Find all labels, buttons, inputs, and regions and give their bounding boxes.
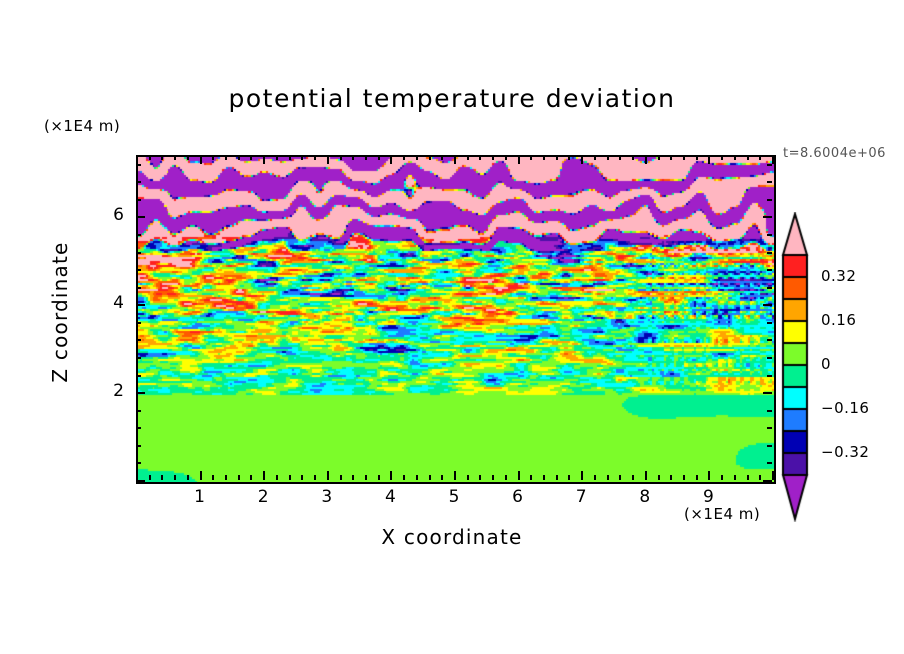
axis-tick [767, 287, 772, 289]
axis-tick [441, 475, 443, 480]
axis-tick [632, 475, 634, 480]
axis-tick [136, 287, 141, 289]
axis-tick [136, 462, 141, 464]
axis-tick [556, 155, 558, 160]
axis-tick [403, 475, 405, 480]
x-tick-label: 2 [243, 487, 283, 507]
axis-tick [136, 216, 145, 218]
axis-tick [763, 216, 772, 218]
axis-tick [161, 155, 163, 160]
axis-tick [492, 155, 494, 160]
y-tick-label: 2 [94, 381, 124, 401]
axis-tick [416, 155, 418, 160]
axis-tick [136, 164, 141, 166]
axis-tick [543, 155, 545, 160]
axis-tick [721, 475, 723, 480]
axis-tick [136, 392, 145, 394]
axis-tick [759, 155, 761, 160]
axis-tick [767, 445, 772, 447]
axis-tick [594, 475, 596, 480]
x-tick-label: 8 [625, 487, 665, 507]
y-axis-title: Z coordinate [48, 212, 72, 412]
axis-tick [378, 155, 380, 160]
colorbar-tick-label: 0.16 [821, 311, 856, 329]
y-tick-label: 6 [94, 205, 124, 225]
axis-tick [378, 475, 380, 480]
axis-tick [454, 155, 456, 164]
axis-tick [767, 375, 772, 377]
axis-tick [136, 181, 141, 183]
colorbar-tick-label: 0 [821, 355, 831, 373]
contour-plot-area [136, 155, 776, 484]
axis-tick [594, 155, 596, 160]
axis-tick [767, 322, 772, 324]
axis-tick [767, 164, 772, 166]
axis-tick [314, 155, 316, 160]
axis-tick [568, 155, 570, 160]
x-tick-label: 4 [370, 487, 410, 507]
axis-tick [352, 155, 354, 160]
axis-tick [327, 155, 329, 164]
y-axis-unit-label: (×1E4 m) [44, 117, 120, 135]
x-axis-title: X coordinate [0, 525, 904, 549]
axis-tick [289, 155, 291, 160]
axis-tick [759, 475, 761, 480]
axis-tick [763, 304, 772, 306]
axis-tick [530, 155, 532, 160]
axis-tick [454, 471, 456, 480]
axis-tick [767, 357, 772, 359]
axis-tick [136, 410, 141, 412]
axis-tick [200, 471, 202, 480]
axis-tick [340, 155, 342, 160]
colorbar-gradient [778, 212, 898, 522]
axis-tick [767, 199, 772, 201]
axis-tick [200, 155, 202, 164]
axis-tick [767, 269, 772, 271]
axis-tick [174, 475, 176, 480]
axis-tick [708, 471, 710, 480]
axis-tick [747, 155, 749, 160]
axis-tick [670, 155, 672, 160]
axis-tick [767, 252, 772, 254]
axis-tick [767, 234, 772, 236]
axis-tick [467, 475, 469, 480]
axis-tick [763, 392, 772, 394]
x-tick-label: 1 [180, 487, 220, 507]
axis-tick [763, 480, 772, 482]
axis-tick [772, 471, 774, 480]
axis-tick [174, 155, 176, 160]
axis-tick [767, 462, 772, 464]
axis-tick [250, 155, 252, 160]
axis-tick [301, 475, 303, 480]
time-annotation: t=8.6004e+06 [783, 146, 886, 161]
axis-tick [136, 480, 145, 482]
colorbar: 0.320.160−0.16−0.32 [778, 212, 898, 522]
axis-tick [263, 471, 265, 480]
axis-tick [340, 475, 342, 480]
axis-tick [136, 269, 141, 271]
colorbar-tick-label: 0.32 [821, 267, 856, 285]
axis-tick [250, 475, 252, 480]
axis-tick [352, 475, 354, 480]
axis-tick [212, 475, 214, 480]
axis-tick [314, 475, 316, 480]
axis-tick [492, 475, 494, 480]
axis-tick [365, 475, 367, 480]
axis-tick [568, 475, 570, 480]
axis-tick [238, 155, 240, 160]
axis-tick [479, 155, 481, 160]
x-tick-label: 3 [307, 487, 347, 507]
axis-tick [734, 475, 736, 480]
axis-tick [225, 475, 227, 480]
axis-tick [149, 475, 151, 480]
x-tick-label: 5 [434, 487, 474, 507]
axis-tick [441, 155, 443, 160]
axis-tick [403, 155, 405, 160]
axis-tick [767, 410, 772, 412]
axis-tick [767, 427, 772, 429]
axis-tick [238, 475, 240, 480]
axis-tick [556, 475, 558, 480]
y-tick-label: 4 [94, 293, 124, 313]
axis-tick [136, 339, 141, 341]
axis-tick [683, 155, 685, 160]
axis-tick [149, 155, 151, 160]
axis-tick [708, 155, 710, 164]
axis-tick [187, 475, 189, 480]
axis-tick [696, 155, 698, 160]
axis-tick [619, 155, 621, 160]
x-axis-unit-label: (×1E4 m) [684, 505, 760, 523]
axis-tick [518, 155, 520, 164]
axis-tick [136, 445, 141, 447]
axis-tick [772, 155, 774, 164]
axis-tick [607, 475, 609, 480]
colorbar-tick-label: −0.32 [821, 443, 869, 461]
axis-tick [136, 304, 145, 306]
x-tick-label: 9 [688, 487, 728, 507]
axis-tick [607, 155, 609, 160]
axis-tick [632, 155, 634, 160]
axis-tick [136, 252, 141, 254]
axis-tick [619, 475, 621, 480]
axis-tick [187, 155, 189, 160]
axis-tick [467, 155, 469, 160]
axis-tick [505, 475, 507, 480]
axis-tick [734, 155, 736, 160]
axis-tick [212, 155, 214, 160]
axis-tick [429, 475, 431, 480]
axis-tick [683, 475, 685, 480]
axis-tick [581, 155, 583, 164]
axis-tick [581, 471, 583, 480]
axis-tick [276, 475, 278, 480]
axis-tick [136, 375, 141, 377]
axis-tick [136, 427, 141, 429]
axis-tick [530, 475, 532, 480]
axis-tick [136, 357, 141, 359]
axis-tick [767, 339, 772, 341]
axis-tick [505, 155, 507, 160]
axis-tick [136, 471, 138, 480]
axis-tick [365, 155, 367, 160]
axis-tick [136, 322, 141, 324]
axis-tick [543, 475, 545, 480]
axis-tick [721, 155, 723, 160]
axis-tick [479, 475, 481, 480]
page-title: potential temperature deviation [0, 84, 904, 113]
colorbar-tick-label: −0.16 [821, 399, 869, 417]
x-tick-label: 7 [561, 487, 601, 507]
axis-tick [263, 155, 265, 164]
axis-tick [161, 475, 163, 480]
axis-tick [416, 475, 418, 480]
temperature-deviation-field [138, 157, 774, 482]
axis-tick [289, 475, 291, 480]
axis-tick [767, 181, 772, 183]
axis-tick [136, 155, 138, 164]
axis-tick [327, 471, 329, 480]
axis-tick [696, 475, 698, 480]
axis-tick [136, 199, 141, 201]
axis-tick [390, 155, 392, 164]
axis-tick [645, 155, 647, 164]
axis-tick [136, 234, 141, 236]
axis-tick [429, 155, 431, 160]
axis-tick [301, 155, 303, 160]
axis-tick [645, 471, 647, 480]
axis-tick [276, 155, 278, 160]
axis-tick [747, 475, 749, 480]
x-tick-label: 6 [498, 487, 538, 507]
axis-tick [658, 475, 660, 480]
axis-tick [658, 155, 660, 160]
axis-tick [670, 475, 672, 480]
axis-tick [518, 471, 520, 480]
axis-tick [390, 471, 392, 480]
axis-tick [225, 155, 227, 160]
